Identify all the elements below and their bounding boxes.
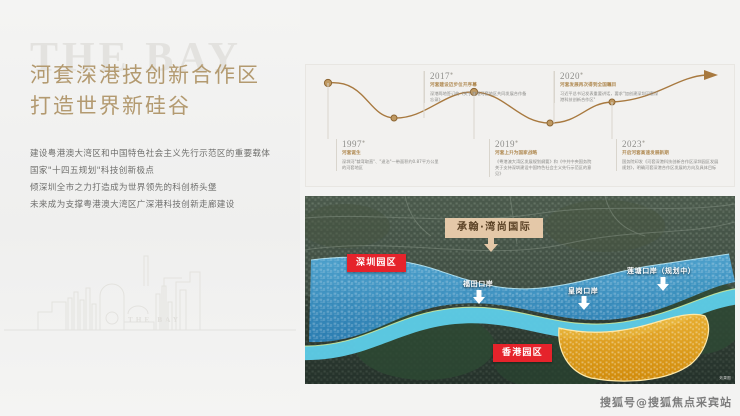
- page-title: 河套深港技创新合作区 打造世界新硅谷: [30, 60, 260, 122]
- timeline-entry-1997[interactable]: 1997● 河套诞生 深圳河"裁弯取直"、"退治"一带面积约0.87平方公里的河…: [336, 139, 441, 171]
- skyline-illustration: [4, 252, 296, 364]
- timeline-desc: 国务院印发《河套深港科技创新合作区深圳园区发展规划》，明确河套深港合作区发展的方…: [622, 159, 721, 171]
- timeline-card: 2017● 河套建设迈步位开序幕 深港两地签订的《关于港港河套地区共同发展合作备…: [305, 64, 735, 187]
- timeline-year: 1997●: [342, 139, 441, 149]
- watermark: 搜狐号@搜狐焦点采宾站: [600, 394, 732, 410]
- timeline-title: 河套发展再次得到全国瞩目: [560, 83, 659, 89]
- timeline-entry-2023[interactable]: 2023● 开启河套高速发展新期 国务院印发《河套深港科技创新合作区深圳园区发展…: [616, 139, 721, 171]
- skyline-caption: THE BAY: [128, 316, 181, 324]
- body-copy: 建设粤港澳大湾区和中国特色社会主义先行示范区的重要载体 国家"十四五规划"科技创…: [30, 146, 270, 214]
- timeline-entry-2017[interactable]: 2017● 河套建设迈步位开序幕 深港两地签订的《关于港港河套地区共同发展合作备…: [424, 71, 529, 103]
- timeline-entry-2019[interactable]: 2019● 河套上升为国家战略 《粤港澳大湾区发展规划纲要》和《中共中央国务院关…: [489, 139, 594, 177]
- timeline-desc: 深港两地签订的《关于港港河套地区共同发展合作备忘录》: [430, 91, 529, 103]
- left-text-panel: THE BAY 河套深港技创新合作区 打造世界新硅谷 建设粤港澳大湾区和中国特色…: [0, 0, 300, 416]
- map-corner-note: 效果图: [719, 376, 731, 381]
- headline-line-2: 打造世界新硅谷: [30, 91, 260, 122]
- map-badge-hongkong-park[interactable]: 香港园区: [493, 344, 552, 362]
- timeline-title: 河套上升为国家战略: [495, 151, 594, 157]
- body-line-4: 未来成为支撑粤港澳大湾区广深港科技创新走廊建设: [30, 197, 270, 214]
- map-badge-chenghan[interactable]: 承翰·湾尚国际: [445, 218, 543, 238]
- slide-root: THE BAY 河套深港技创新合作区 打造世界新硅谷 建设粤港澳大湾区和中国特色…: [0, 0, 740, 416]
- timeline-desc: 习近平总书记发表重要讲话，要求"加创建深圳河套深港科技创新合作区": [560, 91, 659, 103]
- body-line-1: 建设粤港澳大湾区和中国特色社会主义先行示范区的重要载体: [30, 146, 270, 163]
- down-arrow-icon: [484, 236, 498, 256]
- timeline-title: 河套建设迈步位开序幕: [430, 83, 529, 89]
- timeline-year: 2023●: [622, 139, 721, 149]
- body-line-3: 倾深圳全市之力打造成为世界领先的科创桥头堡: [30, 180, 270, 197]
- timeline-desc: 《粤港澳大湾区发展规划纲要》和《中共中央国务院关于支持深圳建设中国特色社会主义先…: [495, 159, 594, 177]
- timeline-title: 开启河套高速发展新期: [622, 151, 721, 157]
- body-line-2: 国家"十四五规划"科技创新极点: [30, 163, 270, 180]
- timeline-year: 2020●: [560, 71, 659, 81]
- down-arrow-icon: [657, 276, 669, 295]
- aerial-map[interactable]: 承翰·湾尚国际 深圳园区 香港园区 福田口岸 皇岗口岸 莲塘口岸（规划中） 效果…: [305, 196, 735, 384]
- down-arrow-icon: [473, 289, 485, 308]
- map-label-futian-port: 福田口岸: [463, 279, 493, 289]
- timeline-year: 2017●: [430, 71, 529, 81]
- map-badge-shenzhen-park[interactable]: 深圳园区: [347, 254, 406, 272]
- headline-line-1: 河套深港技创新合作区: [30, 60, 260, 91]
- timeline-desc: 深圳河"裁弯取直"、"退治"一带面积约0.87平方公里的河套地区: [342, 159, 441, 171]
- timeline-year: 2019●: [495, 139, 594, 149]
- timeline-entry-2020[interactable]: 2020● 河套发展再次得到全国瞩目 习近平总书记发表重要讲话，要求"加创建深圳…: [554, 71, 659, 103]
- down-arrow-icon: [578, 295, 590, 314]
- map-label-lianhe-port: 莲塘口岸（规划中）: [627, 266, 695, 276]
- timeline-title: 河套诞生: [342, 151, 441, 157]
